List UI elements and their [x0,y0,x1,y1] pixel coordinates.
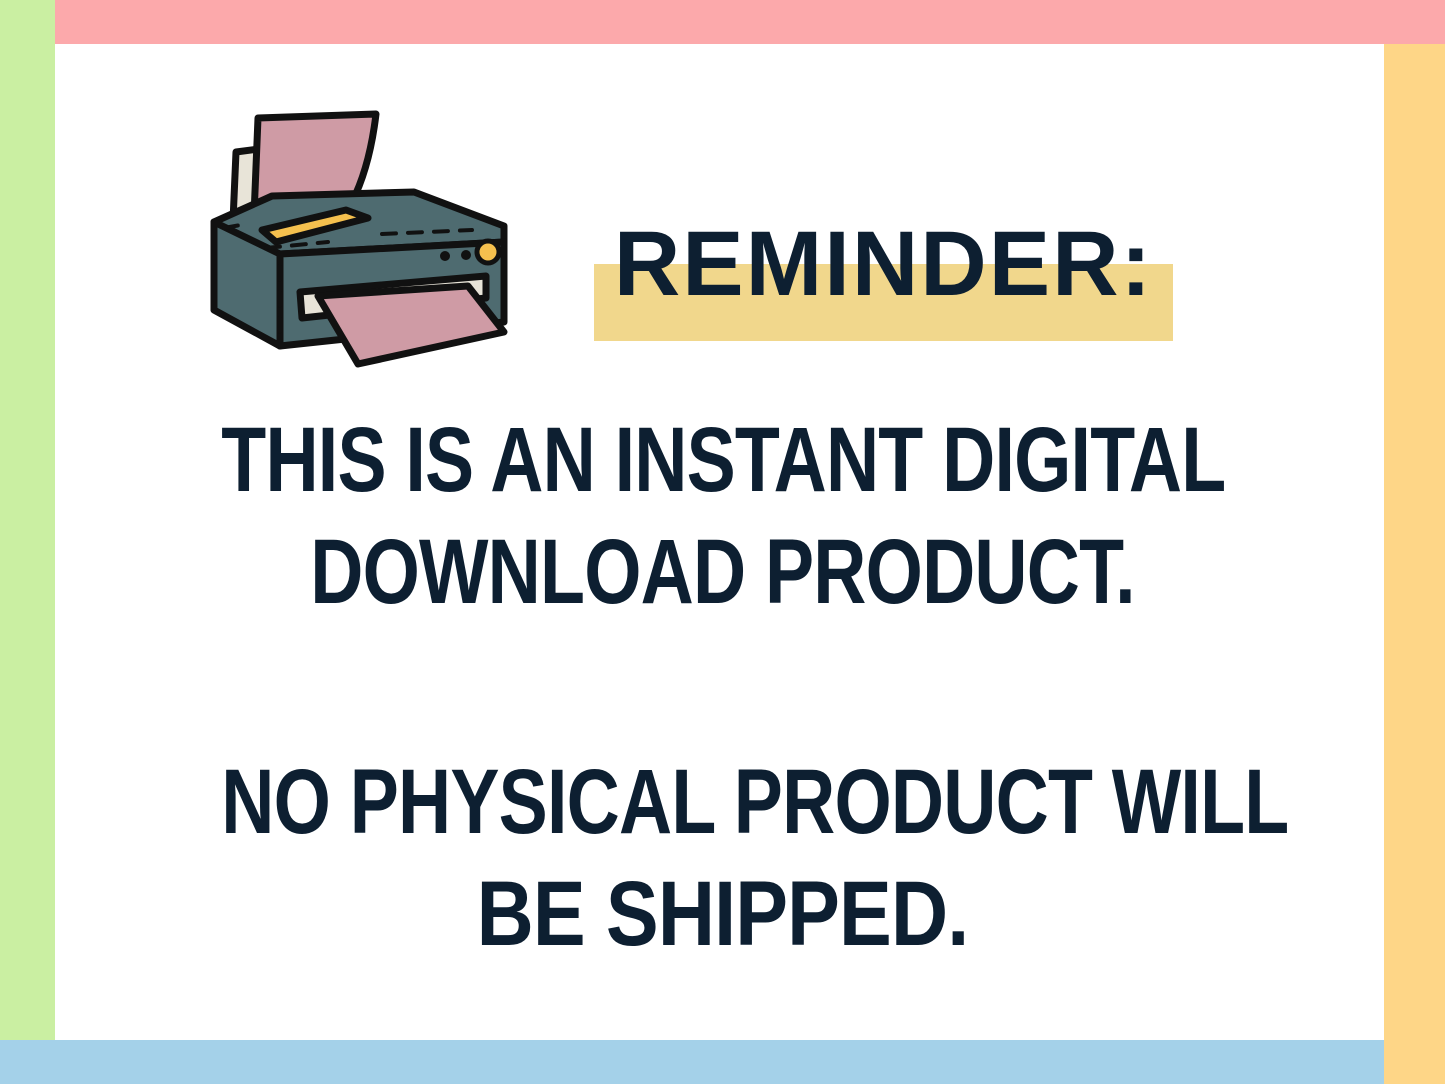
copy-line-4: BE SHIPPED. [184,858,1262,970]
decorative-band-top-pink [55,0,1445,44]
decorative-band-right-yellow [1384,44,1445,1084]
title-block: REMINDER: [594,216,1194,346]
copy-line-3: NO PHYSICAL PRODUCT WILL [221,746,1223,858]
copy-line-2: DOWNLOAD PRODUCT. [221,516,1223,628]
reminder-poster: REMINDER: THIS IS AN INSTANT DIGITAL DOW… [0,0,1445,1084]
body-copy: THIS IS AN INSTANT DIGITAL DOWNLOAD PROD… [96,404,1349,970]
page-title: REMINDER: [594,216,1173,312]
decorative-band-left-green [0,0,55,1040]
decorative-band-bottom-blue [0,1040,1384,1084]
printer-icon [186,96,538,386]
copy-paragraph-gap [96,628,1349,746]
copy-line-1: THIS IS AN INSTANT DIGITAL [221,404,1223,516]
